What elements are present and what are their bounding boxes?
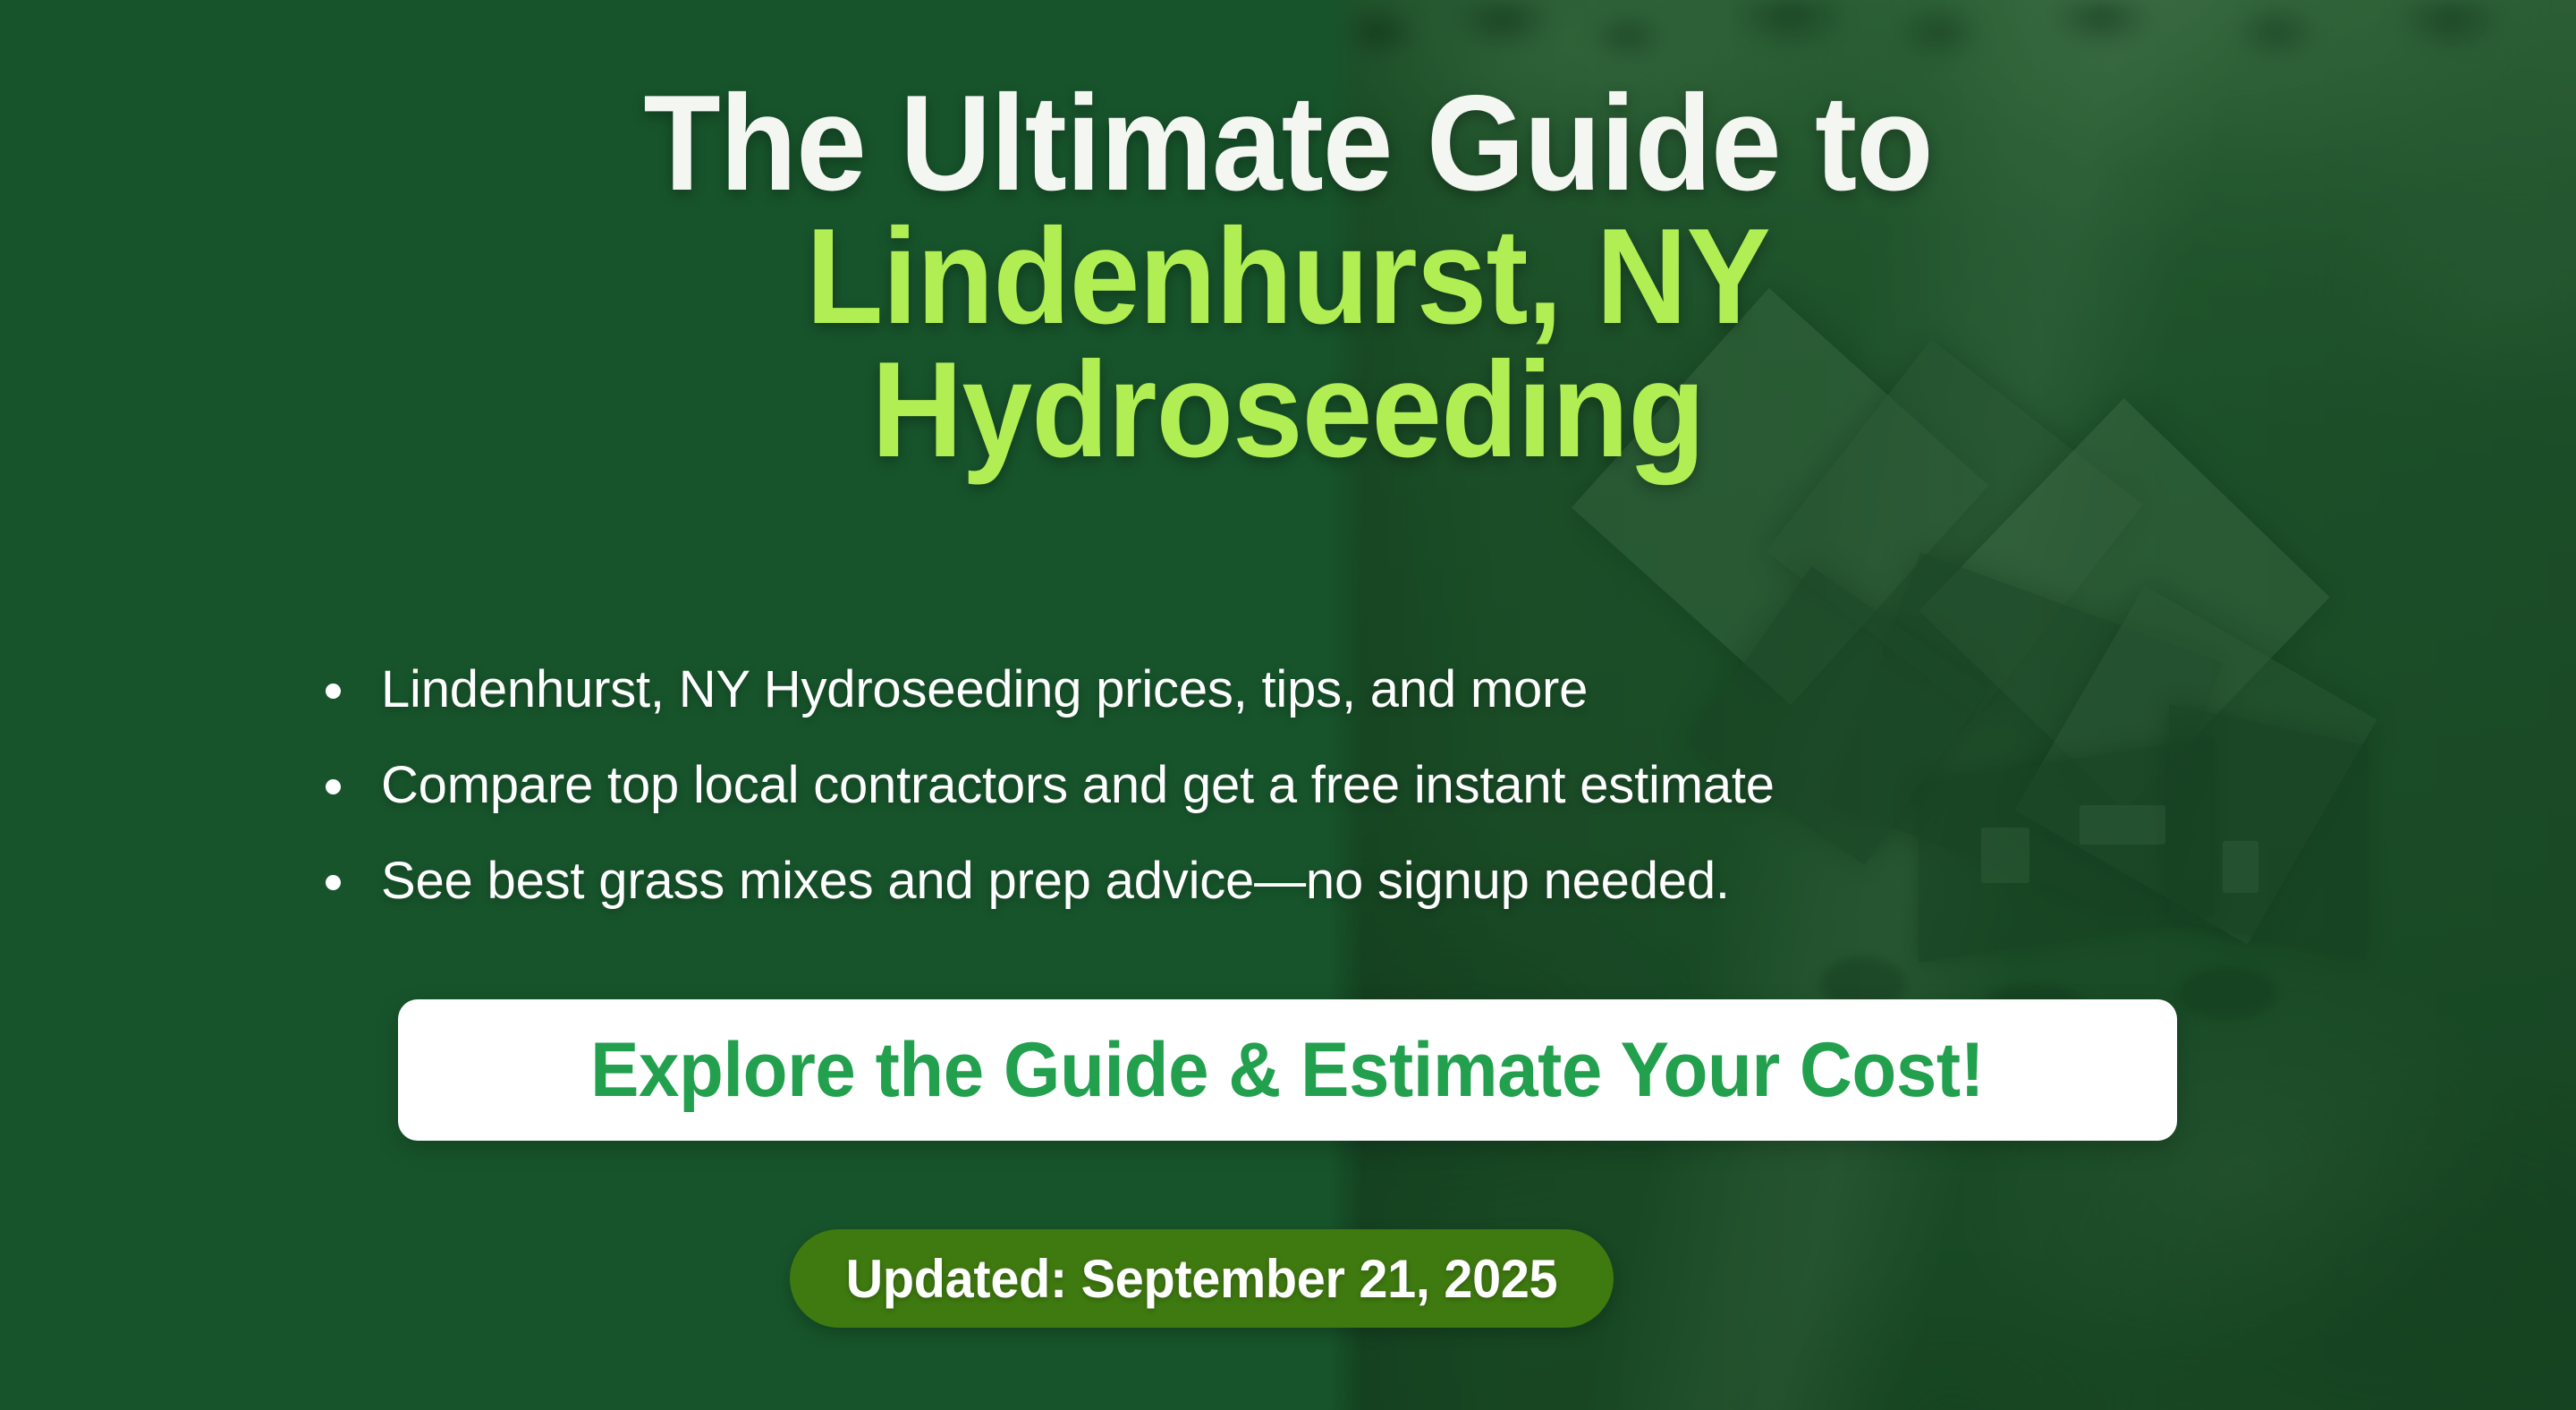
list-item-label: See best grass mixes and prep advice—no … — [381, 852, 1730, 910]
list-item-label: Lindenhurst, NY Hydroseeding prices, tip… — [381, 660, 1588, 718]
cta-button-label: Explore the Guide & Estimate Your Cost! — [590, 1026, 1984, 1115]
updated-date-badge: Updated: September 21, 2025 — [790, 1229, 1614, 1328]
list-item: See best grass mixes and prep advice—no … — [315, 855, 2372, 907]
page-title: The Ultimate Guide to Lindenhurst, NY Hy… — [0, 77, 2576, 477]
bullet-dot-icon — [326, 875, 341, 890]
title-line-2: Lindenhurst, NY — [90, 210, 2486, 344]
feature-bullet-list: Lindenhurst, NY Hydroseeding prices, tip… — [315, 664, 2372, 951]
list-item: Compare top local contractors and get a … — [315, 760, 2372, 811]
bullet-dot-icon — [326, 684, 341, 699]
updated-date-label: Updated: September 21, 2025 — [846, 1248, 1558, 1310]
hero-banner: The Ultimate Guide to Lindenhurst, NY Hy… — [0, 0, 2576, 1410]
banner-content: The Ultimate Guide to Lindenhurst, NY Hy… — [0, 0, 2576, 1410]
explore-guide-cta-button[interactable]: Explore the Guide & Estimate Your Cost! — [398, 999, 2177, 1141]
bullet-dot-icon — [326, 779, 341, 794]
list-item-label: Compare top local contractors and get a … — [381, 756, 1775, 814]
title-line-3: Hydroseeding — [90, 344, 2486, 477]
list-item: Lindenhurst, NY Hydroseeding prices, tip… — [315, 664, 2372, 716]
title-line-1: The Ultimate Guide to — [90, 77, 2486, 210]
